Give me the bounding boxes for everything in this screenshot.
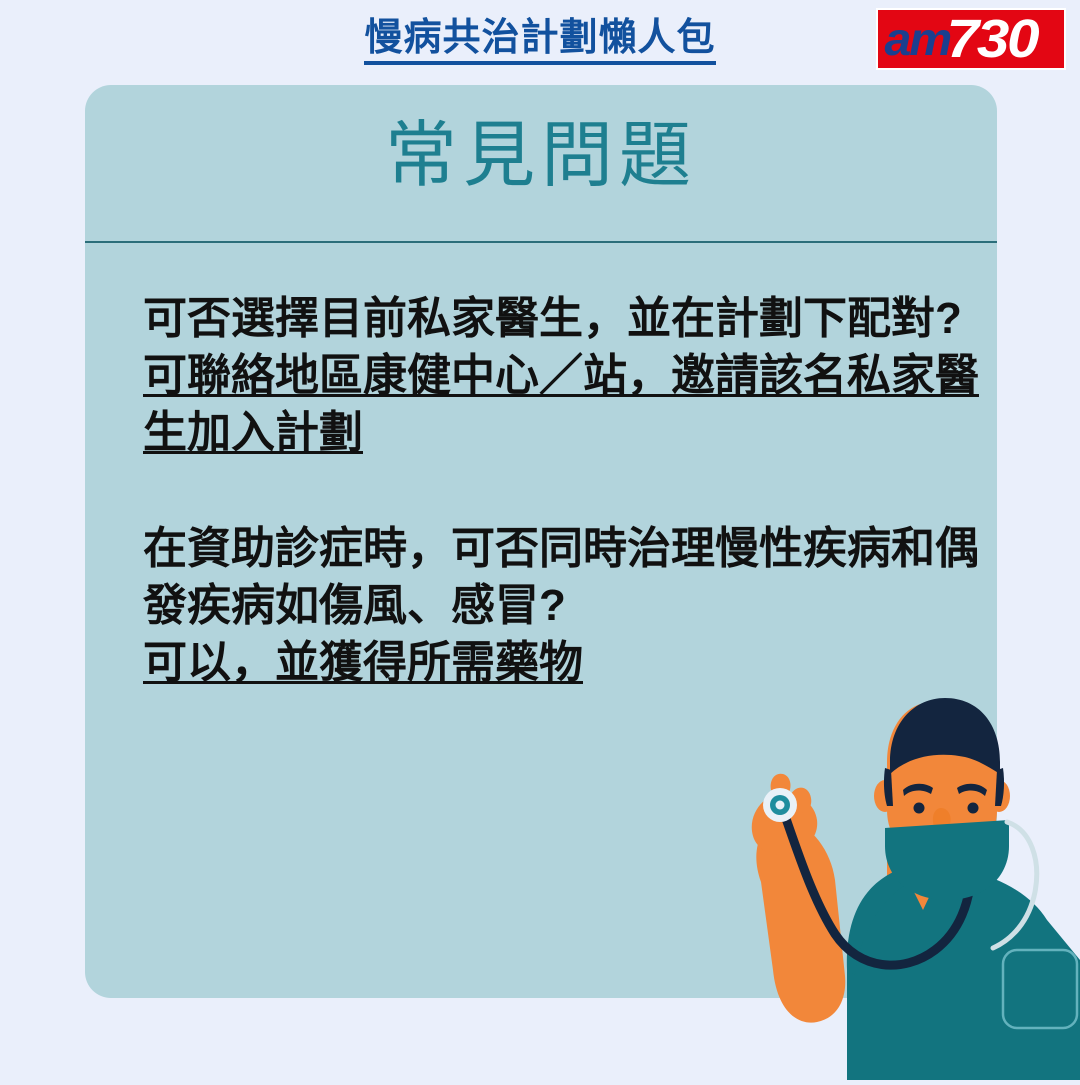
faq-answer: 可聯絡地區康健中心／站，邀請該名私家醫生加入計劃	[143, 351, 979, 457]
doctor-eye-left	[914, 803, 925, 814]
card-heading: 常見問題	[85, 113, 997, 199]
am730-logo: am 730	[876, 8, 1066, 70]
logo-am-text: am	[884, 16, 950, 62]
page-header: 慢病共治計劃懶人包 am 730	[0, 0, 1080, 86]
doctor-illustration	[735, 670, 1080, 1080]
logo-730-text: 730	[947, 12, 1038, 66]
stethoscope-center	[776, 801, 785, 810]
faq-item: 在資助診症時，可否同時治理慢性疾病和偶發疾病如傷風、感冒? 可以，並獲得所需藥物	[143, 520, 983, 692]
faq-answer-wrap: 可聯絡地區康健中心／站，邀請該名私家醫生加入計劃	[143, 347, 983, 461]
page-title-text: 慢病共治計劃懶人包	[364, 17, 715, 65]
faq-answer: 可以，並獲得所需藥物	[143, 638, 583, 687]
faq-item: 可否選擇目前私家醫生，並在計劃下配對? 可聯絡地區康健中心／站，邀請該名私家醫生…	[143, 290, 983, 462]
card-divider	[85, 241, 997, 243]
doctor-eye-right	[968, 803, 979, 814]
faq-question: 在資助診症時，可否同時治理慢性疾病和偶發疾病如傷風、感冒?	[143, 520, 983, 634]
faq-list: 可否選擇目前私家醫生，並在計劃下配對? 可聯絡地區康健中心／站，邀請該名私家醫生…	[143, 290, 983, 691]
faq-question: 可否選擇目前私家醫生，並在計劃下配對?	[143, 290, 983, 347]
